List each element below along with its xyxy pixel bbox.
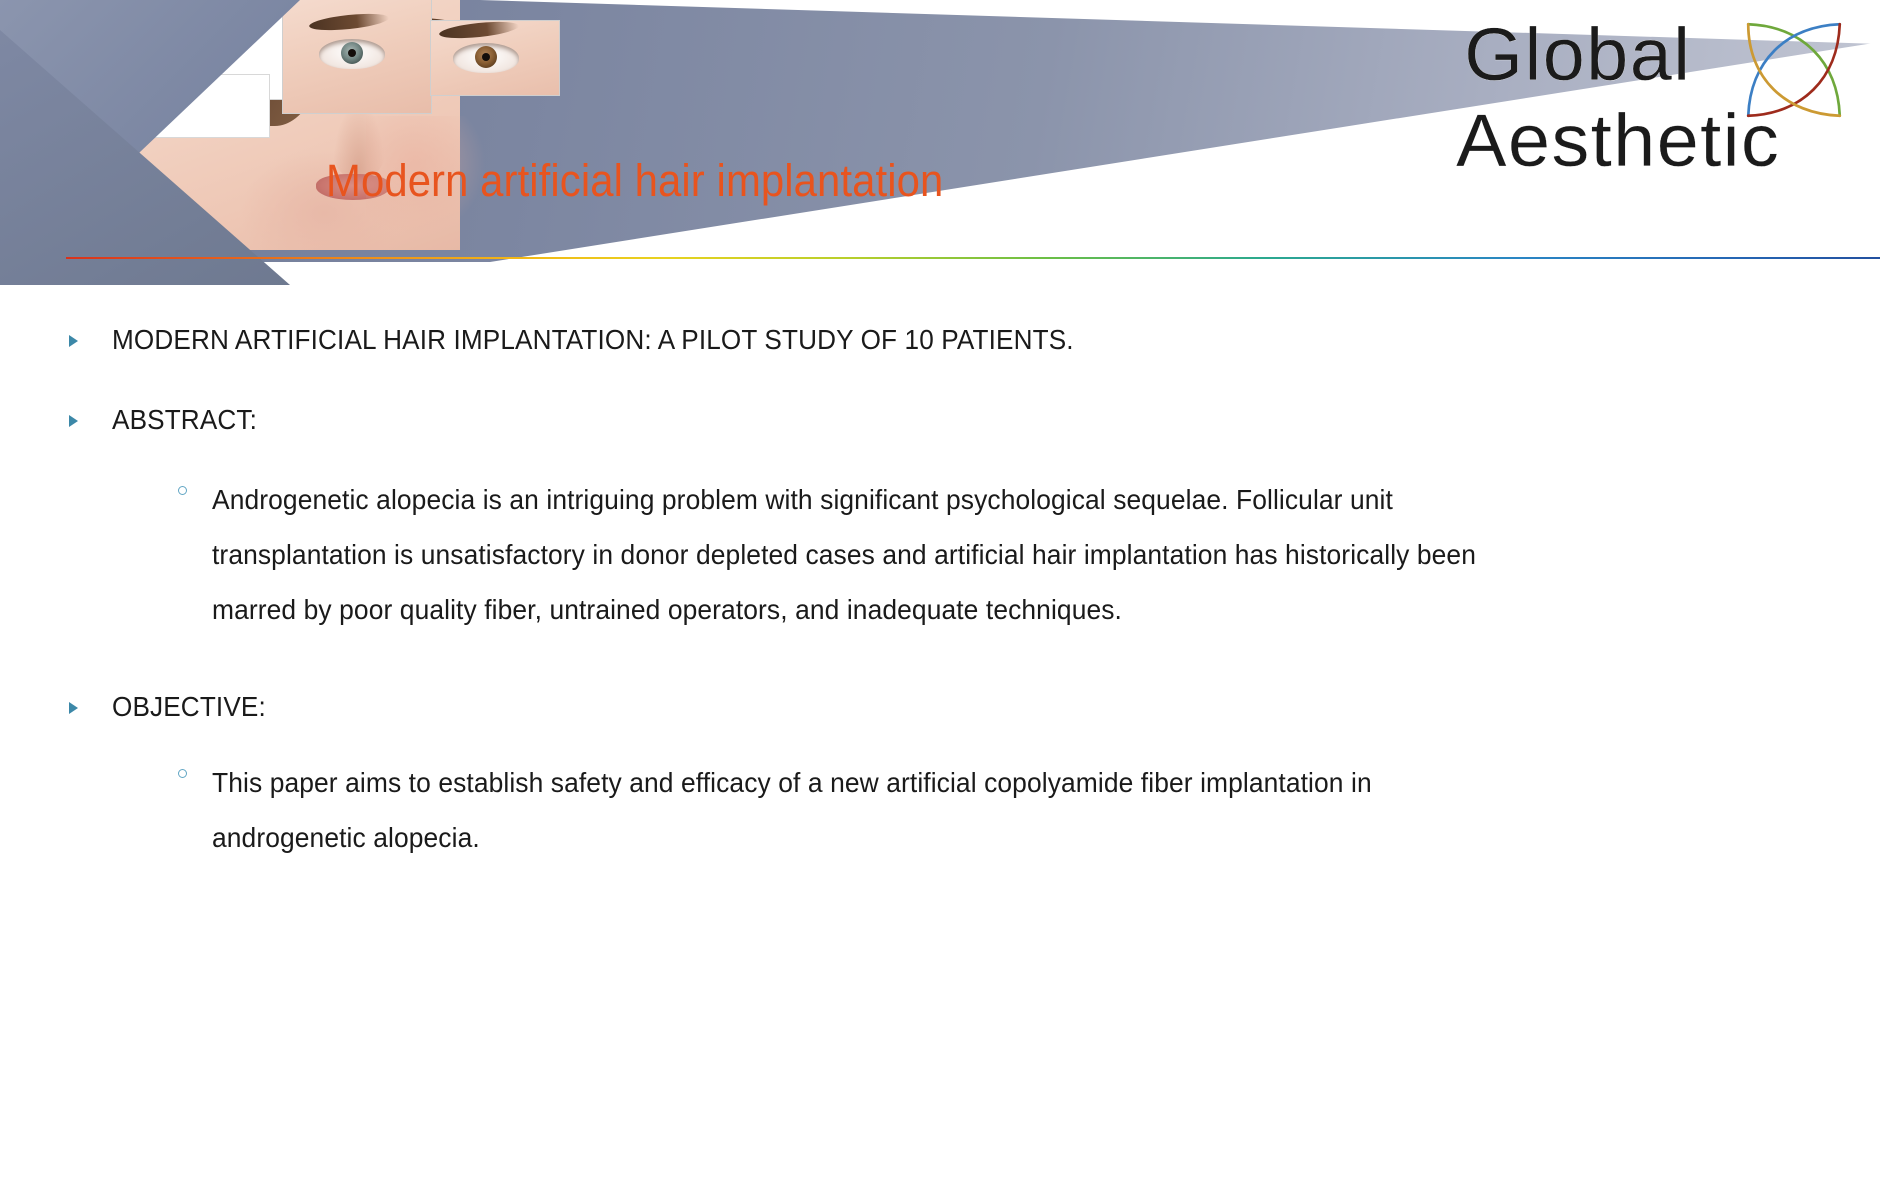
rainbow-divider xyxy=(66,257,1880,259)
tile-iris xyxy=(341,42,363,64)
hollow-circle-icon xyxy=(178,486,187,495)
slide-header-banner: Global Aesthetic xyxy=(0,0,1880,300)
tile-pupil xyxy=(482,53,490,61)
bullet-text: OBJECTIVE: xyxy=(112,689,266,725)
tile-iris xyxy=(475,46,497,68)
banner-bottom-white-fill xyxy=(0,286,1880,300)
brand-logo: Global Aesthetic xyxy=(1452,12,1872,208)
four-arc-lens-logo-mark-icon xyxy=(1742,18,1846,122)
bullet-item-level1: OBJECTIVE: xyxy=(60,689,1850,725)
triangle-right-icon xyxy=(69,335,78,347)
bullet-text: Androgenetic alopecia is an intriguing p… xyxy=(212,472,1518,637)
spacer xyxy=(60,358,1850,402)
bullet-item-level1: MODERN ARTIFICIAL HAIR IMPLANTATION: A P… xyxy=(60,322,1850,358)
tile-pupil xyxy=(348,49,356,57)
page-title: Modern artificial hair implantation xyxy=(326,155,1256,207)
bullet-item-level2: This paper aims to establish safety and … xyxy=(60,755,1850,865)
tile-eye xyxy=(319,39,385,69)
bullet-text: ABSTRACT: xyxy=(112,402,257,438)
slide-body: MODERN ARTIFICIAL HAIR IMPLANTATION: A P… xyxy=(60,322,1850,1162)
hollow-circle-icon xyxy=(178,769,187,778)
bullet-item-level1: ABSTRACT: xyxy=(60,402,1850,438)
bullet-text: MODERN ARTIFICIAL HAIR IMPLANTATION: A P… xyxy=(112,322,1074,358)
tile-eye xyxy=(453,43,519,73)
triangle-right-icon xyxy=(69,702,78,714)
triangle-right-icon xyxy=(69,415,78,427)
collage-tile-eye-crop-4 xyxy=(430,20,560,96)
spacer xyxy=(60,637,1850,689)
collage-tile-eye-crop-3 xyxy=(282,0,432,114)
spacer xyxy=(60,725,1850,755)
bullet-item-level2: Androgenetic alopecia is an intriguing p… xyxy=(60,472,1850,637)
bullet-text: This paper aims to establish safety and … xyxy=(212,755,1518,865)
slide: Global Aesthetic Modern artificial hair … xyxy=(0,0,1880,1185)
spacer xyxy=(60,438,1850,472)
